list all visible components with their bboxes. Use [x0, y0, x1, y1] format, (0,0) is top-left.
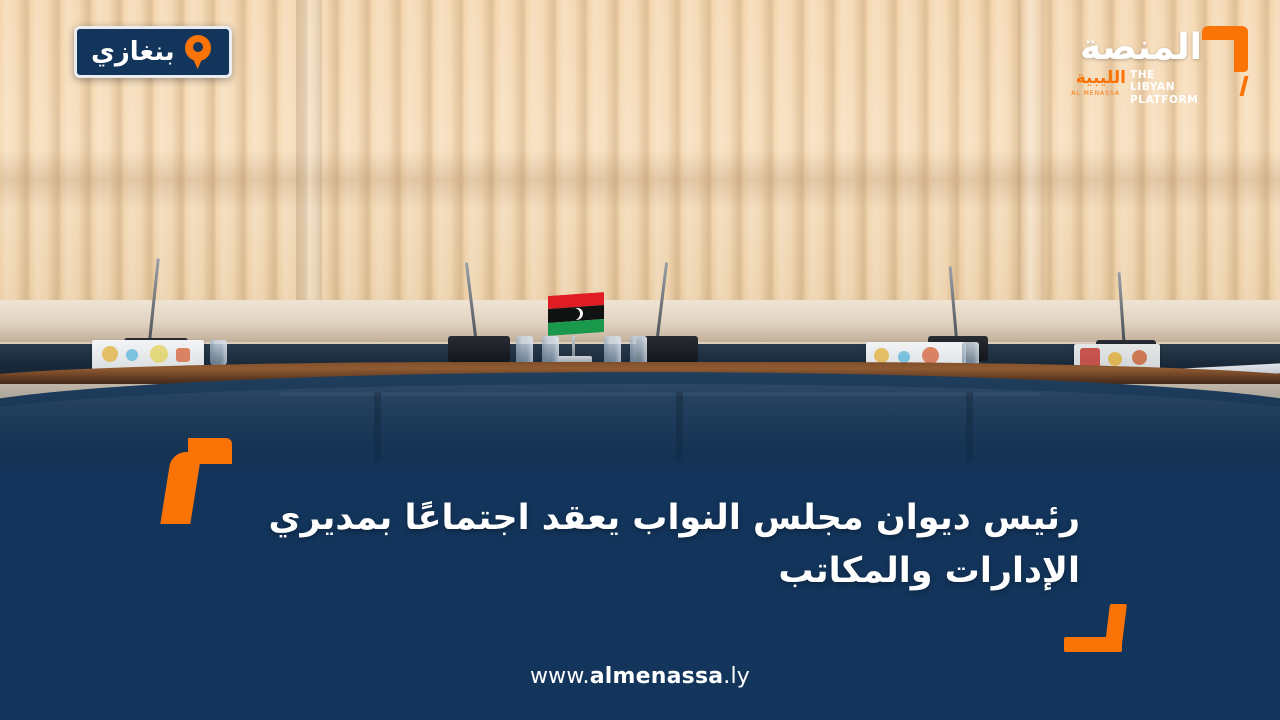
logo-arabic-subtitle-tiny: AL MENASSA	[1071, 90, 1120, 97]
logo-english-line-2: PLATFORM	[1130, 94, 1198, 106]
brand-logo[interactable]: المنصة الليبية AL MENASSA THE LIBYAN PLA…	[1054, 14, 1254, 106]
wall-pillar-left	[296, 0, 322, 330]
wall-pillar-right	[1018, 0, 1044, 330]
blinds-shadow	[0, 150, 1280, 210]
logo-mark-icon	[1202, 26, 1248, 72]
logo-tick-icon	[1240, 76, 1249, 96]
location-label: بنغازي	[91, 39, 175, 65]
orange-bracket-bottom-right-icon	[1064, 604, 1124, 652]
logo-english-line-1: THE LIBYAN	[1130, 69, 1175, 93]
url-suffix: .ly	[723, 664, 750, 689]
logo-arabic-subtitle: الليبية	[1076, 70, 1126, 87]
logo-english-name: THE LIBYAN PLATFORM	[1130, 69, 1202, 106]
news-card: بنغازي المنصة الليبية AL MENASSA THE LIB…	[0, 0, 1280, 720]
logo-arabic-name: المنصة	[1080, 30, 1202, 66]
location-badge[interactable]: بنغازي	[74, 26, 232, 78]
footer-url[interactable]: www.almenassa.ly	[0, 664, 1280, 689]
url-prefix: www.	[530, 664, 590, 689]
headline-text: رئيس ديوان مجلس النواب يعقد اجتماعًا بمد…	[200, 492, 1080, 598]
map-pin-icon	[185, 35, 211, 69]
url-brand: almenassa	[590, 664, 724, 689]
